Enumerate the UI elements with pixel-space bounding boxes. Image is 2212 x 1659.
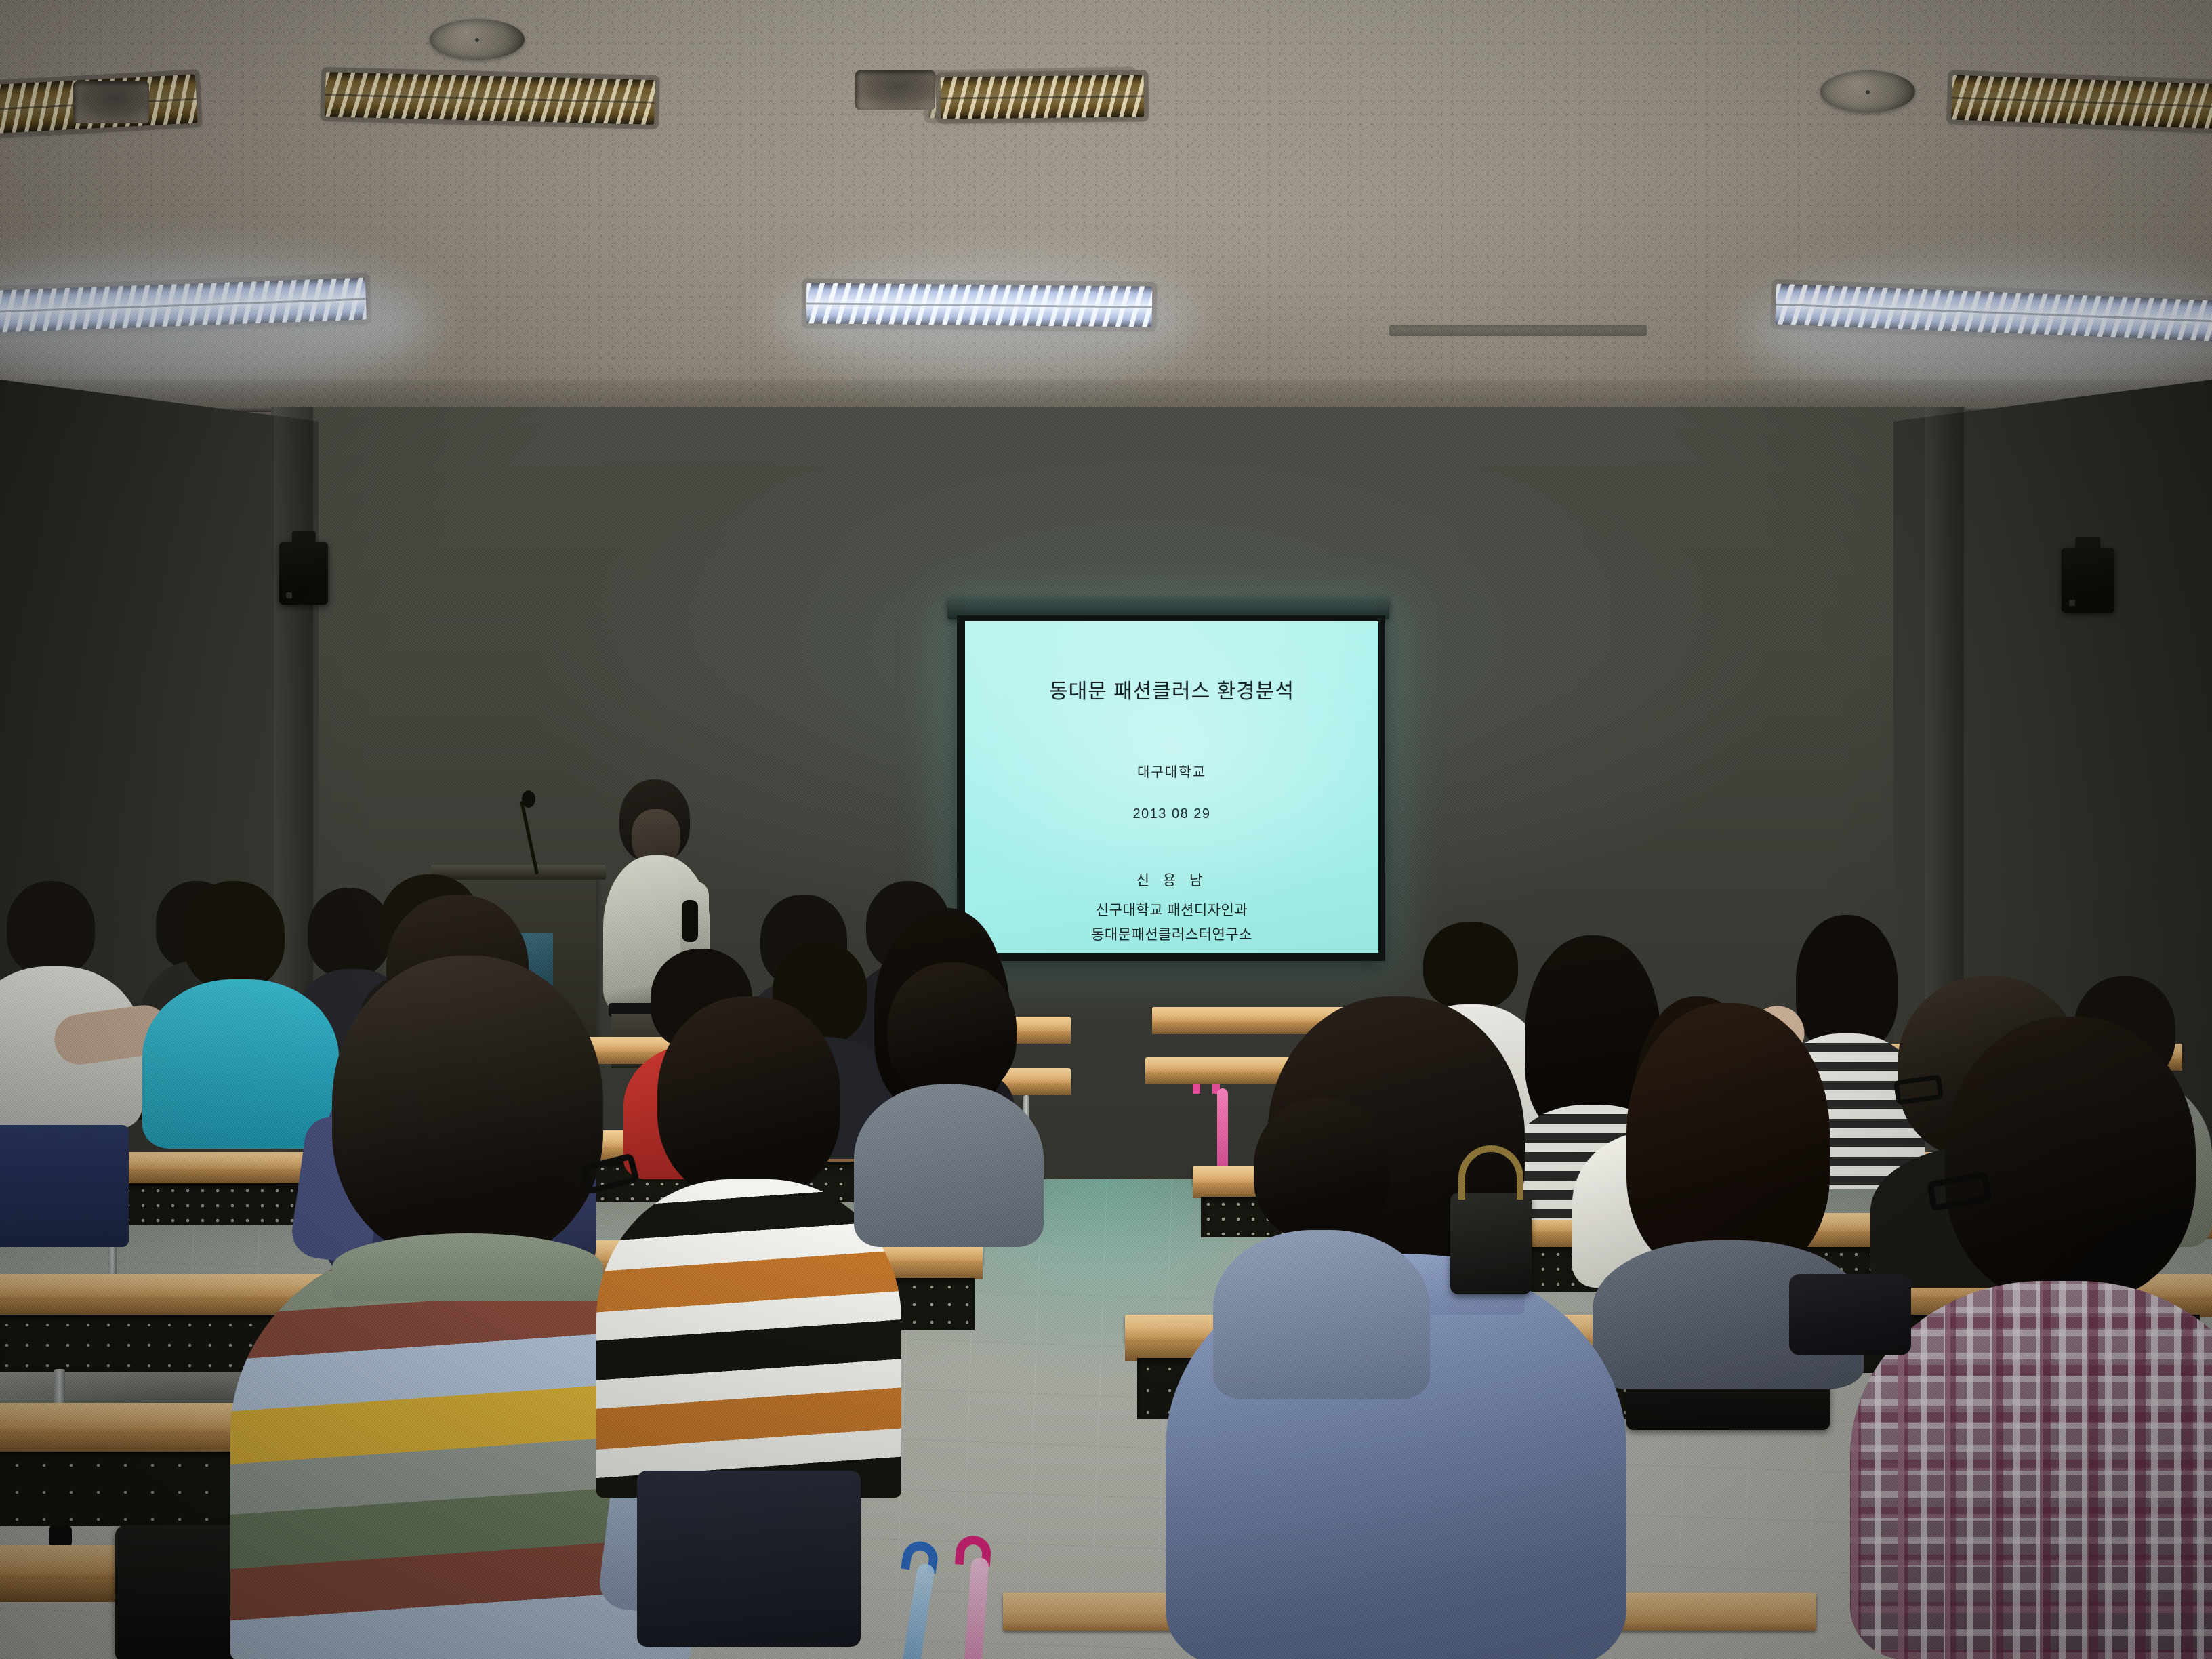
slide-title: 동대문 패션클러스 환경분석 bbox=[1049, 674, 1294, 704]
slide-affiliation-1: 신구대학교 패션디자인과 bbox=[1096, 899, 1248, 920]
audience-member bbox=[854, 962, 1044, 1247]
slide-affiliation-2: 동대문패션클러스터연구소 bbox=[1091, 924, 1252, 944]
gooseneck-microphone-head bbox=[522, 790, 535, 808]
slide-date: 2013 08 29 bbox=[1132, 806, 1210, 822]
audience-shorts bbox=[0, 1125, 129, 1247]
ceiling-light-fixture bbox=[325, 72, 655, 125]
wall-speaker bbox=[279, 542, 328, 605]
ceiling-vent-hole bbox=[855, 70, 935, 110]
polo-collar bbox=[332, 1233, 603, 1301]
ceiling-light-fixture bbox=[941, 75, 1145, 119]
lecture-hall-scene: 동대문 패션클러스 환경분석 대구대학교 2013 08 29 신 용 남 신구… bbox=[0, 0, 2212, 1659]
backpack bbox=[1789, 1274, 1911, 1355]
audience-shorts bbox=[637, 1471, 861, 1647]
ceiling-light-fixture bbox=[806, 283, 1153, 327]
handheld-microphone bbox=[682, 900, 698, 942]
audience-member bbox=[1213, 1098, 1430, 1396]
slide-organization: 대구대학교 bbox=[1137, 761, 1206, 781]
presentation-slide: 동대문 패션클러스 환경분석 대구대학교 2013 08 29 신 용 남 신구… bbox=[965, 621, 1378, 953]
slide-author: 신 용 남 bbox=[1136, 869, 1208, 890]
wall-speaker bbox=[2062, 548, 2114, 613]
ceiling-air-vent bbox=[1389, 325, 1647, 336]
ceiling-vent-hole bbox=[73, 81, 149, 123]
ceiling-speaker bbox=[430, 19, 525, 60]
projection-screen: 동대문 패션클러스 환경분석 대구대학교 2013 08 29 신 용 남 신구… bbox=[957, 615, 1385, 961]
ceiling-speaker bbox=[1820, 70, 1915, 112]
handbag bbox=[1450, 1193, 1532, 1294]
